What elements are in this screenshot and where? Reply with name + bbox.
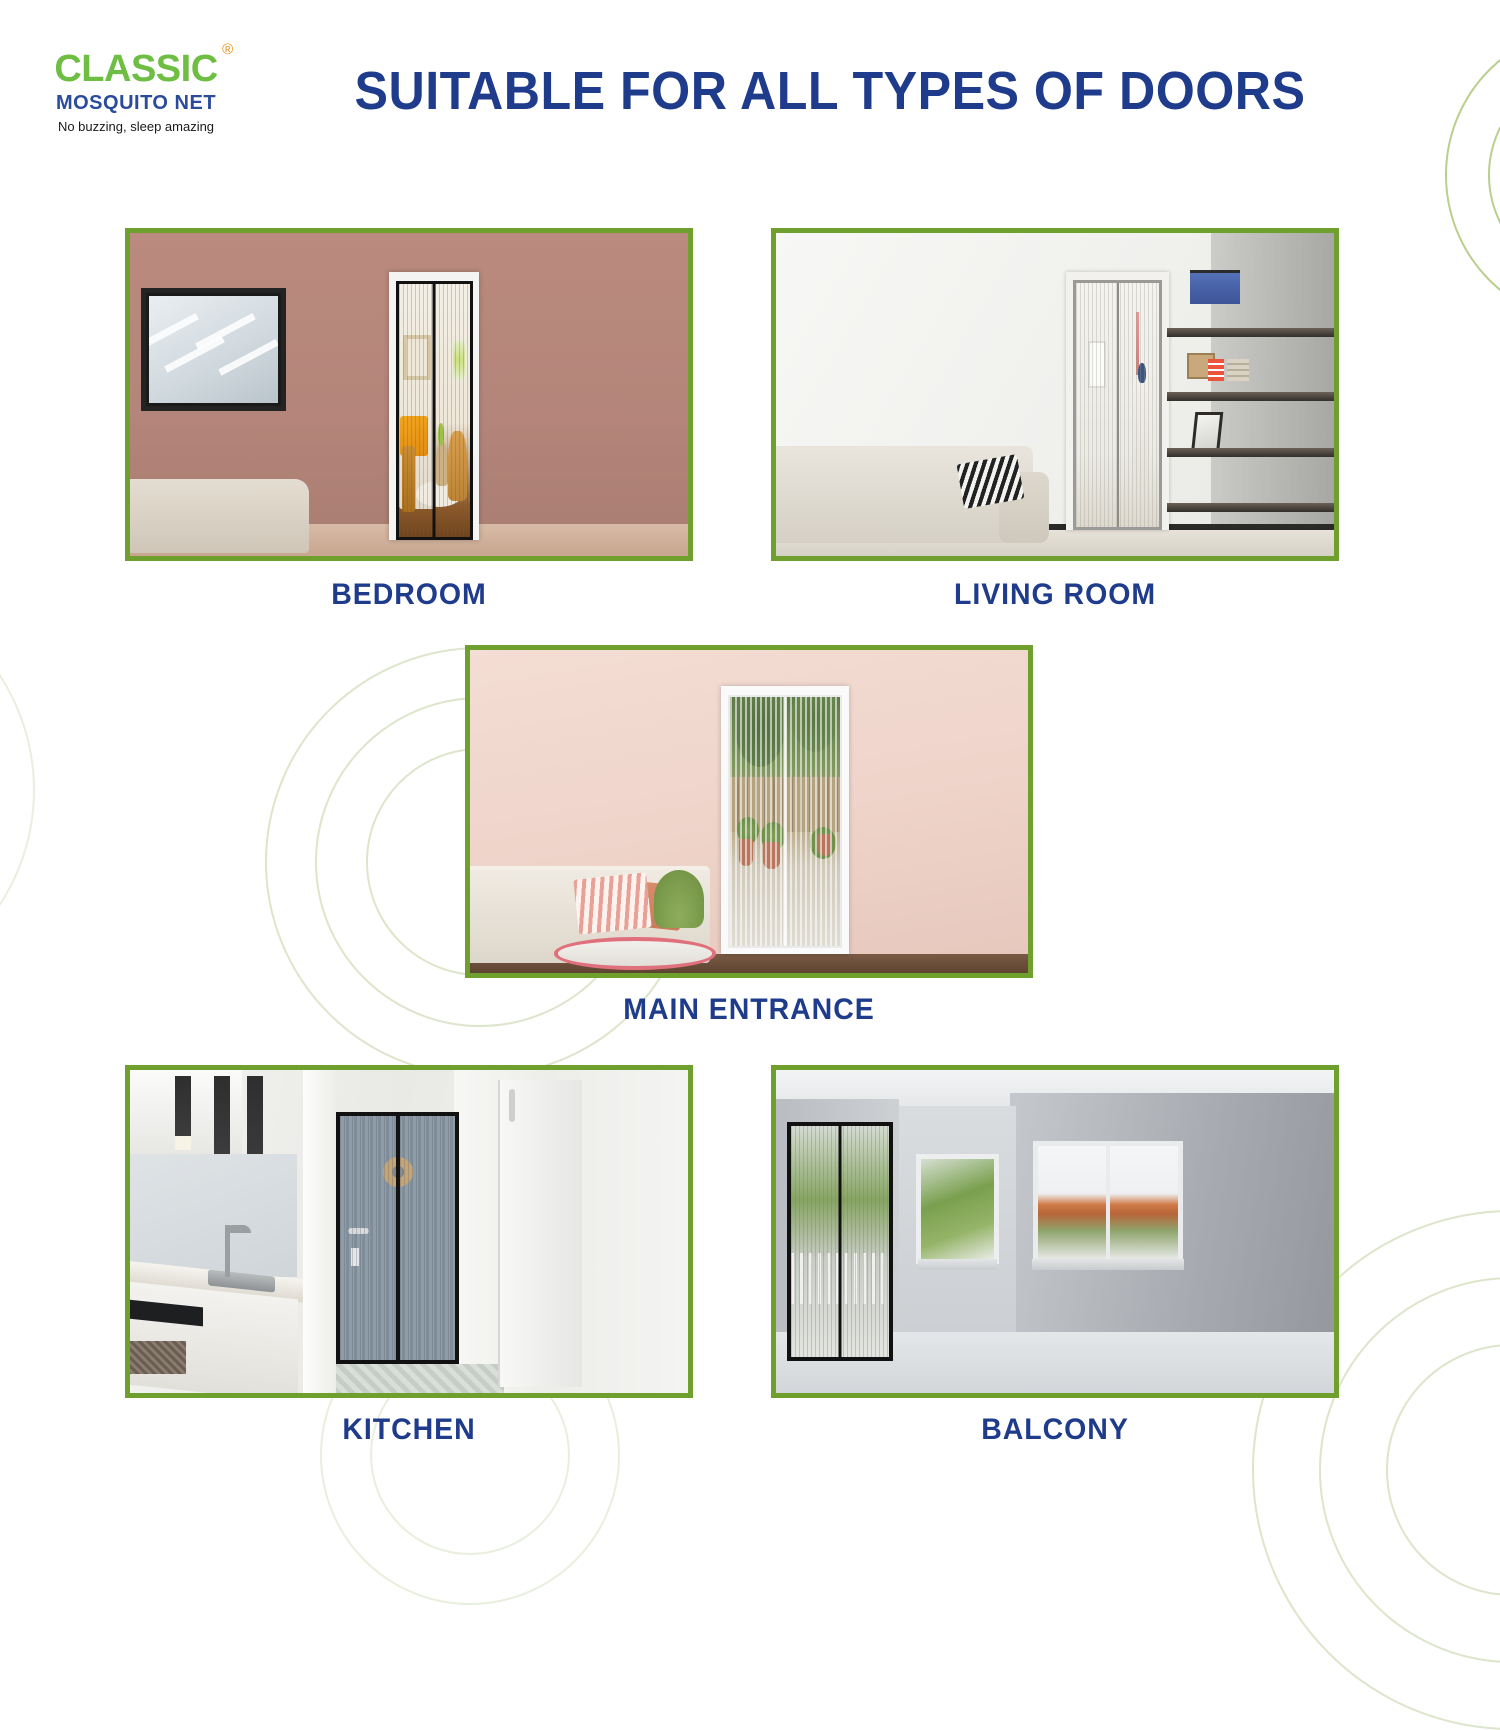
scene-balcony xyxy=(776,1070,1334,1393)
floating-shelf-unit xyxy=(1167,259,1334,537)
fridge-handle xyxy=(509,1089,515,1121)
balcony-door-frame xyxy=(787,1122,893,1361)
photo-bedroom xyxy=(125,228,693,561)
wall-picture-image xyxy=(149,296,278,403)
pendant-light-2 xyxy=(214,1076,230,1154)
photo-main-entrance xyxy=(465,645,1033,978)
net-center-seam xyxy=(1117,283,1119,528)
caption-bedroom: BEDROOM xyxy=(139,578,679,612)
kitchen-fridge xyxy=(498,1080,582,1387)
page-title: SUITABLE FOR ALL TYPES OF DOORS xyxy=(291,60,1370,122)
wide-window-divider xyxy=(1106,1146,1110,1259)
shelf-blue-book xyxy=(1190,270,1240,304)
kitchen-stone-base xyxy=(125,1341,186,1373)
kitchen-side-wall xyxy=(303,1070,336,1393)
small-window-sill xyxy=(918,1259,998,1270)
wall-picture-frame xyxy=(141,288,286,411)
mosquito-net-balcony xyxy=(791,1126,889,1357)
grey-blue-entrance-door xyxy=(340,1116,455,1360)
shelf-4 xyxy=(1167,503,1334,512)
ring xyxy=(1386,1344,1500,1596)
card-living-room xyxy=(771,228,1339,561)
door-frame-living-room xyxy=(1066,272,1169,530)
caption-main-entrance: MAIN ENTRANCE xyxy=(479,993,1019,1027)
scene-bedroom xyxy=(130,233,688,556)
caption-living-room: LIVING ROOM xyxy=(785,578,1325,612)
mosquito-net-bedroom xyxy=(396,281,473,540)
photo-kitchen xyxy=(125,1065,693,1398)
small-window-view xyxy=(921,1159,995,1259)
ring xyxy=(1488,68,1500,282)
mosquito-net-main-entrance xyxy=(728,695,842,948)
pink-coffee-table xyxy=(554,937,716,969)
pendant-glow xyxy=(175,1136,191,1150)
net-center-seam xyxy=(784,697,787,946)
shelf-decor-red xyxy=(1208,359,1223,381)
caption-balcony: BALCONY xyxy=(785,1413,1325,1447)
ring xyxy=(1319,1277,1500,1663)
kitchen-base-cabinet xyxy=(125,1280,297,1398)
shelf-2 xyxy=(1167,392,1334,401)
shelf-decor-stack xyxy=(1227,359,1249,381)
shelf-1 xyxy=(1167,328,1334,337)
net-center-seam xyxy=(396,1116,400,1360)
ring xyxy=(1445,25,1500,325)
card-bedroom xyxy=(125,228,693,561)
photo-balcony xyxy=(771,1065,1339,1398)
logo-tagline: No buzzing, sleep amazing xyxy=(36,119,236,136)
card-balcony xyxy=(771,1065,1339,1398)
registered-trademark-icon: ® xyxy=(222,42,233,57)
logo-classic-word: CLASSIC xyxy=(54,48,217,90)
scene-living-room xyxy=(776,233,1334,556)
photo-living-room xyxy=(771,228,1339,561)
card-main-entrance xyxy=(465,645,1033,978)
net-center-seam xyxy=(433,284,436,537)
door-frame-white xyxy=(389,272,478,540)
door-frame-main-entrance xyxy=(721,686,849,954)
kitchen-backsplash xyxy=(130,1154,297,1277)
kitchen-floor xyxy=(314,1364,504,1393)
caption-kitchen: KITCHEN xyxy=(139,1413,679,1447)
potted-grass-plant xyxy=(654,870,704,928)
kitchen-faucet-spout xyxy=(225,1225,251,1233)
bedroom-sofa xyxy=(125,479,309,553)
logo-product-text: MOSQUITO NET xyxy=(36,91,236,116)
logo-classic-text: CLASSIC ® xyxy=(54,50,217,88)
balcony-small-window xyxy=(916,1154,1000,1264)
striped-pink-pillow xyxy=(573,872,651,934)
shelf-3 xyxy=(1167,448,1334,457)
net-center-seam xyxy=(839,1126,842,1357)
card-kitchen xyxy=(125,1065,693,1398)
scene-kitchen xyxy=(130,1070,688,1393)
brand-logo: CLASSIC ® MOSQUITO NET No buzzing, sleep… xyxy=(36,50,236,136)
pendant-light-1 xyxy=(175,1076,191,1136)
wide-window-sill xyxy=(1032,1259,1184,1270)
scene-main-entrance xyxy=(470,650,1028,973)
balcony-wide-window xyxy=(1033,1141,1184,1264)
ring xyxy=(0,580,35,1000)
door-frame-kitchen xyxy=(336,1112,459,1364)
mosquito-net-living-room xyxy=(1073,280,1162,531)
